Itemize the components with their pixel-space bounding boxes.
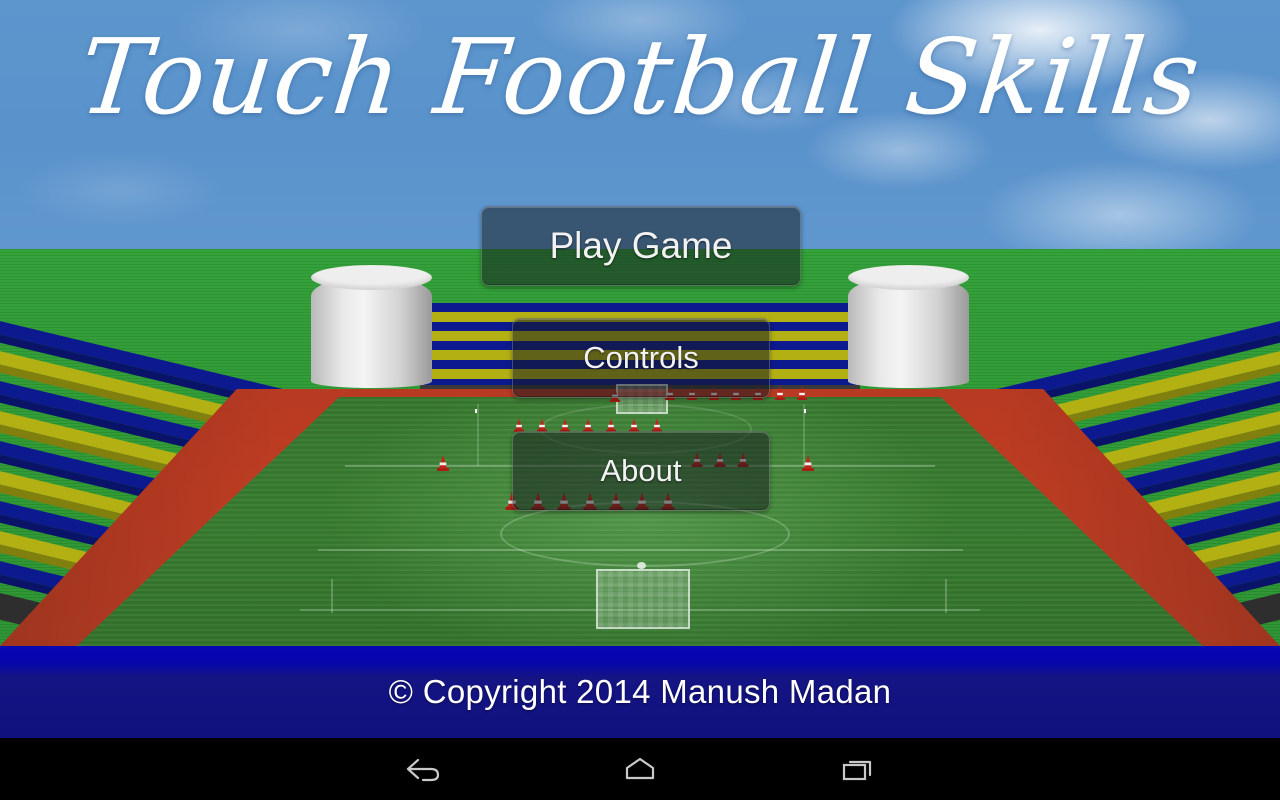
game-title: Touch Football Skills [0,18,1280,138]
recent-apps-icon [838,753,878,785]
copyright-text: © Copyright 2014 Manush Madan [389,673,892,711]
play-game-button[interactable]: Play Game [481,206,801,286]
goal-near [596,569,690,629]
floodlight-tower-right [848,276,969,388]
app-screen: Touch Football Skills Play Game Controls… [0,0,1280,800]
pitch-line-left-post-mark [331,579,333,613]
nav-back-button[interactable] [364,738,484,800]
home-icon [620,753,660,785]
android-navigation-bar [0,738,1280,800]
football [637,562,646,569]
copyright-footer: © Copyright 2014 Manush Madan [0,646,1280,738]
about-button[interactable]: About [512,431,770,511]
controls-label: Controls [583,340,698,376]
nav-home-button[interactable] [580,738,700,800]
floodlight-tower-left [311,276,432,388]
about-label: About [600,453,681,489]
nav-recent-apps-button[interactable] [798,738,918,800]
controls-button[interactable]: Controls [512,318,770,398]
corner-flag-left [475,409,477,413]
pitch-line-right-post-mark [945,579,947,613]
play-game-label: Play Game [549,225,732,267]
back-arrow-icon [404,753,444,785]
corner-flag-right [804,409,806,413]
pitch-line-left-box [477,404,479,466]
